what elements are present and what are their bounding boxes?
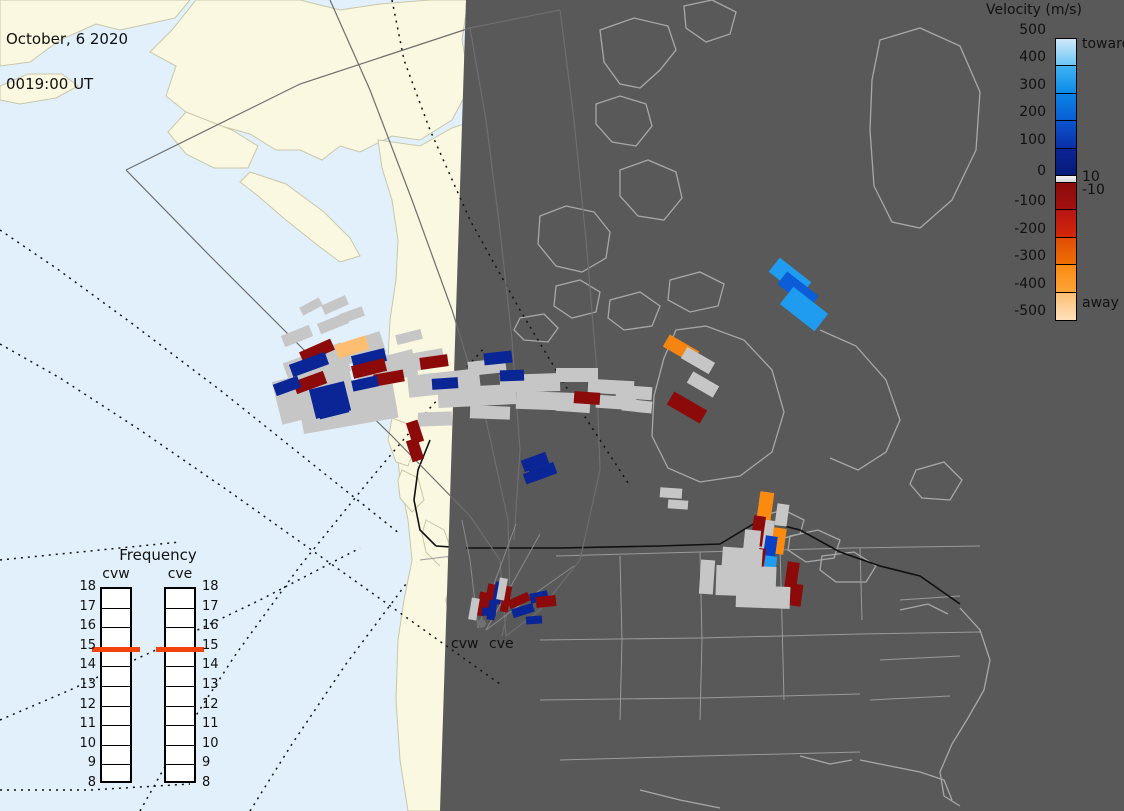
freq-cell — [102, 765, 130, 785]
freq-scale-right-13: 13 — [202, 677, 224, 692]
velocity-legend-title: Velocity (m/s) — [986, 2, 1124, 18]
freq-column-cvw — [100, 587, 132, 783]
freq-cell — [166, 726, 194, 746]
freq-scale-left-17: 17 — [74, 599, 96, 614]
scatter-cell — [482, 608, 497, 617]
freq-scale-left-16: 16 — [74, 618, 96, 633]
colorbar-tick--200: -200 — [1014, 221, 1046, 237]
colorbar-tick--300: -300 — [1014, 248, 1046, 264]
freq-scale-right-17: 17 — [202, 599, 224, 614]
colorbar-tick-0: 0 — [1037, 163, 1046, 179]
frequency-legend-title: Frequency — [86, 546, 230, 564]
freq-cell — [102, 707, 130, 727]
freq-scale-right-18: 18 — [202, 579, 224, 594]
colorbar-band-7 — [1056, 210, 1076, 237]
site-label-cve: cve — [489, 636, 514, 652]
freq-scale-right-15: 15 — [202, 638, 224, 653]
colorbar-tick-200: 200 — [1019, 104, 1046, 120]
scatter-cell — [668, 499, 689, 509]
colorbar-tick-100: 100 — [1019, 132, 1046, 148]
timestamp-date: October, 6 2020 — [6, 32, 128, 47]
freq-cell — [102, 609, 130, 629]
scatter-cell — [432, 377, 459, 390]
colorbar-band-0 — [1056, 39, 1076, 66]
freq-scale-left-13: 13 — [74, 677, 96, 692]
scatter-cell — [470, 405, 510, 419]
colorbar-tick--100: -100 — [1014, 193, 1046, 209]
freq-cell — [166, 687, 194, 707]
freq-marker-cve — [156, 647, 204, 652]
freq-scale-left-11: 11 — [74, 716, 96, 731]
colorbar-tick-300: 300 — [1019, 77, 1046, 93]
freq-scale-right-9: 9 — [202, 755, 224, 770]
freq-scale-right-10: 10 — [202, 736, 224, 751]
freq-cell — [102, 628, 130, 648]
colorbar-band-3 — [1056, 121, 1076, 148]
site-label-cvw: cvw — [451, 636, 478, 652]
colorbar-band-4 — [1056, 149, 1076, 176]
scatter-cell — [535, 595, 556, 608]
freq-scale-left-10: 10 — [74, 736, 96, 751]
radar-site-marker — [477, 619, 486, 628]
near-zero-negative-label: -10 — [1082, 182, 1105, 198]
freq-column-cve — [164, 587, 196, 783]
scatter-cell — [418, 411, 452, 426]
freq-cell — [166, 707, 194, 727]
colorbar-band-5 — [1056, 176, 1076, 183]
freq-column-label-cve: cve — [158, 566, 202, 582]
colorbar-tick-400: 400 — [1019, 49, 1046, 65]
colorbar-band-6 — [1056, 183, 1076, 210]
freq-cell — [166, 628, 194, 648]
toward-label: toward — [1082, 36, 1124, 52]
freq-cell — [102, 687, 130, 707]
colorbar-band-8 — [1056, 238, 1076, 265]
scatter-cell — [500, 370, 524, 382]
freq-cell — [166, 667, 194, 687]
scatter-cell — [526, 615, 543, 624]
freq-scale-left-15: 15 — [74, 638, 96, 653]
freq-column-label-cvw: cvw — [94, 566, 138, 582]
freq-cell — [166, 609, 194, 629]
scatter-cell — [699, 560, 715, 595]
timestamp-time: 0019:00 UT — [6, 77, 128, 92]
colorbar-band-10 — [1056, 293, 1076, 320]
freq-cell — [166, 746, 194, 766]
freq-cell — [102, 746, 130, 766]
freq-scale-right-8: 8 — [202, 775, 224, 790]
superdarn-map-page: October, 6 2020 0019:00 UT Velocity (m/s… — [0, 0, 1124, 811]
scatter-cell — [660, 487, 683, 499]
freq-cell — [166, 765, 194, 785]
freq-cell — [102, 589, 130, 609]
timestamp-block: October, 6 2020 0019:00 UT — [6, 2, 128, 122]
colorbar-band-2 — [1056, 94, 1076, 121]
freq-scale-right-12: 12 — [202, 697, 224, 712]
colorbar-band-9 — [1056, 265, 1076, 292]
freq-scale-right-11: 11 — [202, 716, 224, 731]
colorbar-tick--500: -500 — [1014, 303, 1046, 319]
freq-cell — [166, 589, 194, 609]
scatter-cell — [616, 385, 653, 400]
freq-scale-left-18: 18 — [74, 579, 96, 594]
velocity-legend: Velocity (m/s) 5004003002001000-100-200-… — [980, 0, 1124, 340]
freq-scale-left-12: 12 — [74, 697, 96, 712]
freq-scale-left-14: 14 — [74, 657, 96, 672]
freq-cell — [102, 726, 130, 746]
away-label: away — [1082, 295, 1119, 311]
scatter-cell — [574, 391, 601, 405]
colorbar-tick--400: -400 — [1014, 276, 1046, 292]
freq-cell — [102, 667, 130, 687]
freq-scale-right-16: 16 — [202, 618, 224, 633]
freq-marker-cvw — [92, 647, 140, 652]
scatter-cell — [736, 585, 791, 609]
freq-scale-left-8: 8 — [74, 775, 96, 790]
scatter-cell — [743, 529, 761, 553]
frequency-legend: Frequency cvwcve181817171616151514141313… — [86, 546, 230, 786]
colorbar-band-1 — [1056, 66, 1076, 93]
colorbar-tick-500: 500 — [1019, 22, 1046, 38]
velocity-colorbar — [1055, 38, 1077, 321]
freq-scale-left-9: 9 — [74, 755, 96, 770]
freq-scale-right-14: 14 — [202, 657, 224, 672]
